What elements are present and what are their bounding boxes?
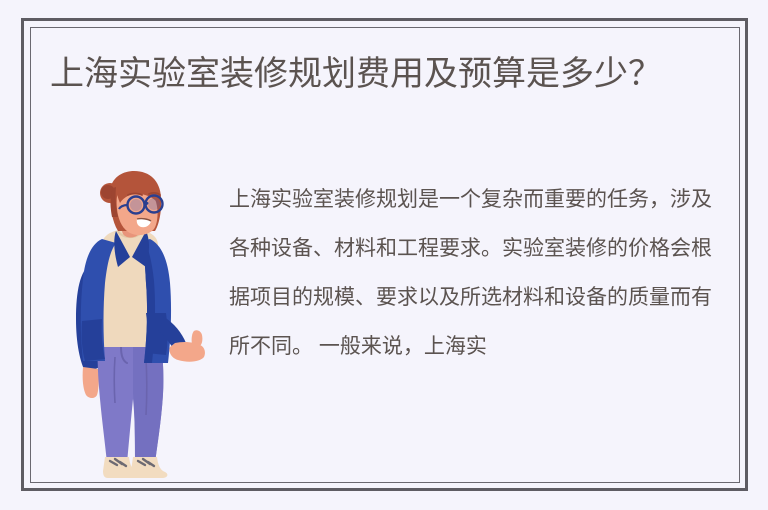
body-section: 上海实验室装修规划是一个复杂而重要的任务，涉及各种设备、材料和工程要求。实验室装… [30, 157, 740, 483]
article-body-text: 上海实验室装修规划是一个复杂而重要的任务，涉及各种设备、材料和工程要求。实验室装… [229, 175, 731, 371]
page-title: 上海实验室装修规划费用及预算是多少？ [50, 50, 740, 98]
person-thumbs-up-illustration [58, 171, 208, 483]
card-content: 上海实验室装修规划费用及预算是多少？ [30, 27, 740, 483]
article-card-page: 上海实验室装修规划费用及预算是多少？ [0, 0, 768, 510]
